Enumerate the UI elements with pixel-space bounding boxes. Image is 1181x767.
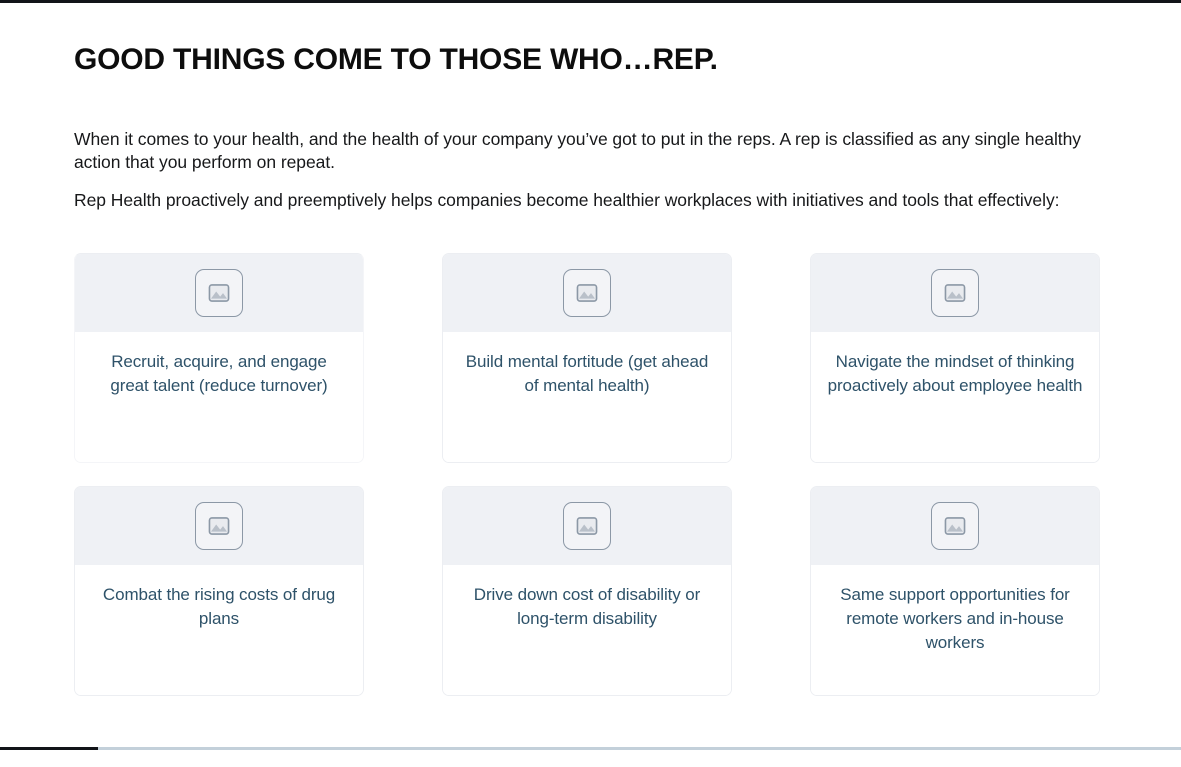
bottom-progress-rule[interactable] [0, 747, 1181, 750]
benefit-card[interactable]: Build mental fortitude (get ahead of men… [442, 253, 732, 463]
image-placeholder-icon [931, 269, 979, 317]
card-media-band [75, 487, 363, 565]
card-body: Same support opportunities for remote wo… [811, 565, 1099, 695]
card-label: Build mental fortitude (get ahead of men… [458, 350, 716, 398]
image-placeholder-icon [195, 269, 243, 317]
benefit-card[interactable]: Navigate the mindset of thinking proacti… [810, 253, 1100, 463]
card-label: Same support opportunities for remote wo… [826, 583, 1084, 655]
card-media-band [443, 487, 731, 565]
bottom-progress-fill [0, 747, 98, 750]
image-placeholder-icon [563, 502, 611, 550]
intro-paragraph-1: When it comes to your health, and the he… [74, 128, 1104, 174]
card-body: Combat the rising costs of drug plans [75, 565, 363, 695]
page-root: GOOD THINGS COME TO THOSE WHO…REP. When … [0, 3, 1181, 755]
card-media-band [443, 254, 731, 332]
benefit-card[interactable]: Same support opportunities for remote wo… [810, 486, 1100, 696]
benefit-card[interactable]: Recruit, acquire, and engage great talen… [74, 253, 364, 463]
card-body: Drive down cost of disability or long-te… [443, 565, 731, 695]
benefit-card[interactable]: Drive down cost of disability or long-te… [442, 486, 732, 696]
image-placeholder-icon [195, 502, 243, 550]
benefit-card-grid: Recruit, acquire, and engage great talen… [74, 253, 1107, 696]
card-media-band [75, 254, 363, 332]
benefit-card[interactable]: Combat the rising costs of drug plans [74, 486, 364, 696]
intro-section: When it comes to your health, and the he… [74, 128, 1107, 212]
image-placeholder-icon [931, 502, 979, 550]
card-label: Combat the rising costs of drug plans [90, 583, 348, 631]
page-title: GOOD THINGS COME TO THOSE WHO…REP. [74, 3, 1107, 79]
card-media-band [811, 487, 1099, 565]
card-media-band [811, 254, 1099, 332]
card-body: Navigate the mindset of thinking proacti… [811, 332, 1099, 462]
card-body: Build mental fortitude (get ahead of men… [443, 332, 731, 462]
image-placeholder-icon [563, 269, 611, 317]
card-label: Recruit, acquire, and engage great talen… [90, 350, 348, 398]
card-body: Recruit, acquire, and engage great talen… [75, 332, 363, 462]
card-label: Navigate the mindset of thinking proacti… [826, 350, 1084, 398]
intro-paragraph-2: Rep Health proactively and preemptively … [74, 189, 1104, 212]
card-label: Drive down cost of disability or long-te… [458, 583, 716, 631]
page-content: GOOD THINGS COME TO THOSE WHO…REP. When … [0, 3, 1181, 696]
